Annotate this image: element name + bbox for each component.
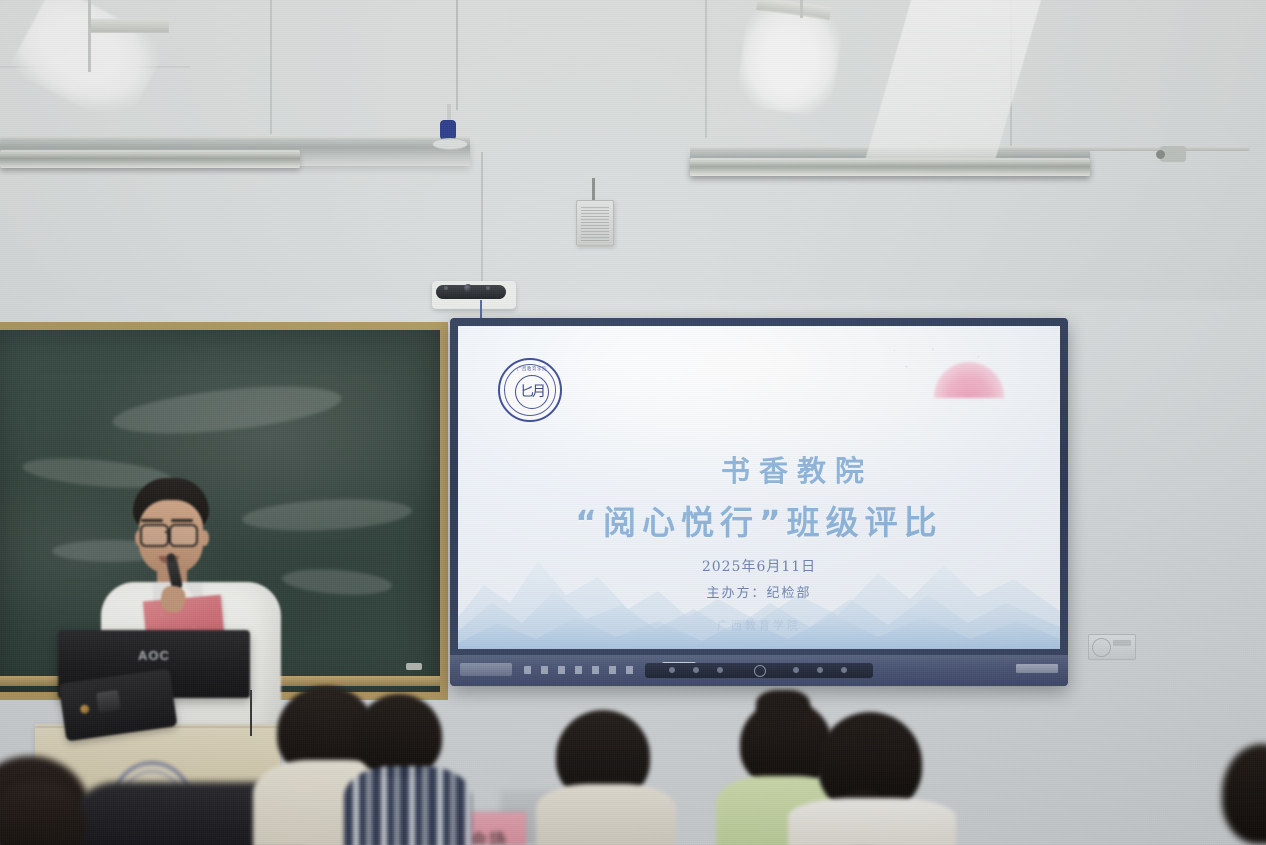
glasses-icon [169,524,198,547]
light-housing [91,19,169,33]
slide-date: 2025年6月11日 [458,556,1060,576]
glasses-icon [140,524,169,547]
power-outlet-icon[interactable] [1088,634,1136,660]
display-control-bar[interactable] [450,655,1068,686]
display-cable [481,152,483,284]
mic-dot-icon [444,286,448,290]
hanging-cable [456,0,458,110]
display-port-icons [524,666,642,674]
chalk-piece [406,663,422,670]
audience-torso [536,784,676,845]
light-hanger-right [800,0,804,18]
camera-lens-icon [464,284,472,292]
interactive-display[interactable]: 广西教育学院 匕月 [450,318,1068,686]
slide-watermark: 广西教育学院 [458,617,1060,633]
fluorescent-light-right [735,0,846,118]
classroom-photo-scene: 广西教育学院 匕月 [0,0,1266,845]
mic-dot-icon [486,286,490,290]
sprinkler-head-icon [432,104,466,152]
speaker-mount [592,178,595,202]
ceiling-conduit [0,136,470,141]
arm-screw-icon [80,704,90,714]
display-screen[interactable]: 广西教育学院 匕月 [458,326,1060,649]
security-camera-icon [1160,146,1186,162]
webcam-bar-icon[interactable] [432,281,516,309]
school-seal-icon: 广西教育学院 匕月 [498,358,562,422]
batten-fixture-right [690,158,1090,176]
seal-center-glyph: 匕月 [515,375,549,409]
slide-title-line1: 书香教院 [496,448,1060,490]
power-button-icon[interactable] [754,665,766,677]
ceiling-seam [705,0,707,138]
wall-speaker-icon [576,200,614,246]
slide-host: 主办方：纪检部 [458,582,1060,601]
monitor-cable [250,690,252,736]
batten-fixture-left [0,150,300,168]
presentation-slide: 广西教育学院 匕月 [458,326,1060,649]
audience-torso [788,798,956,845]
ceiling-seam [270,0,272,134]
monitor-brand-label: AOC [58,648,250,663]
light-hanger-left [88,0,92,72]
display-model-badge [1016,664,1058,673]
display-brand-logo [460,663,512,676]
light-glow [735,8,844,118]
audience-torso-plaid [344,766,472,845]
slide-title-line2: “阅心悦行”班级评比 [458,496,1060,544]
hair-bun [756,690,810,724]
display-button-panel[interactable] [645,663,873,678]
